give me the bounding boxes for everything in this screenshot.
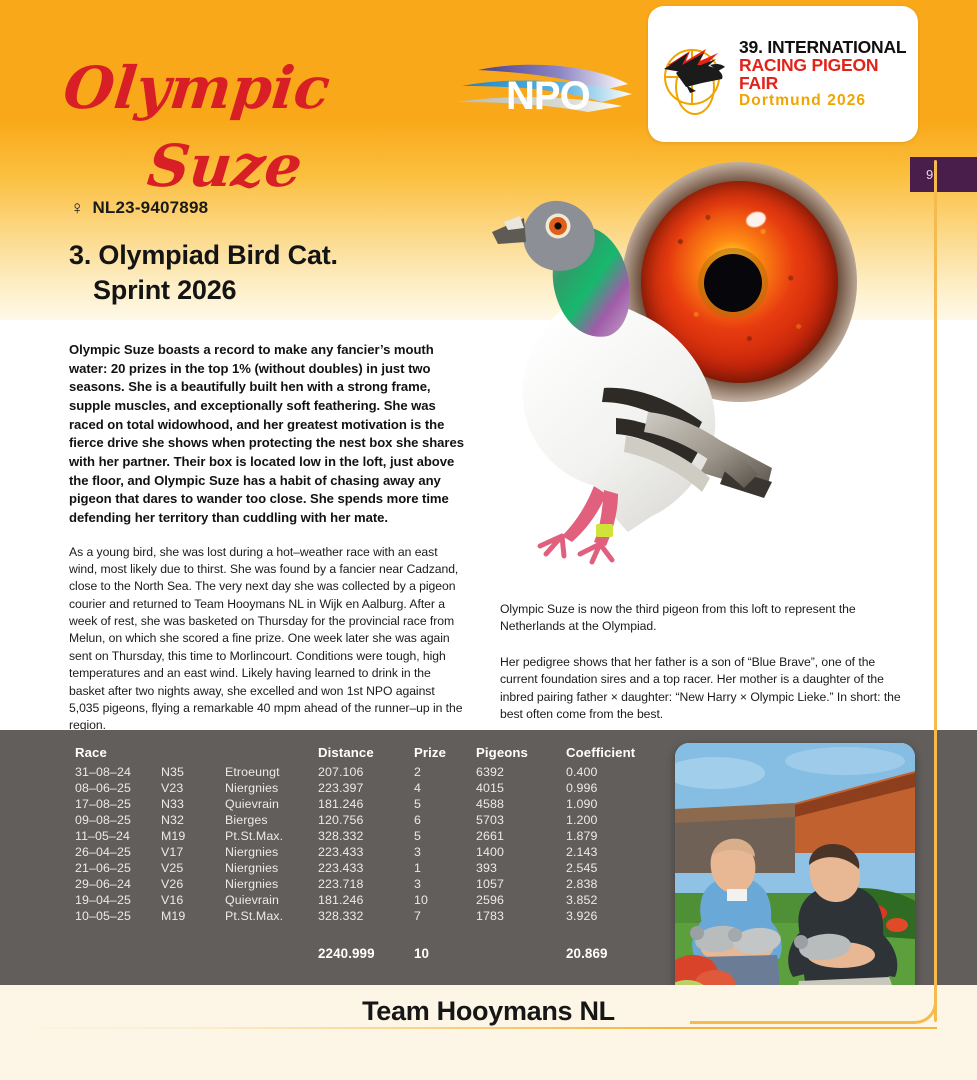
cell-code: V23 — [161, 780, 225, 796]
table-row: 26–04–25V17Niergnies223.433314002.143 — [75, 844, 666, 860]
ring-number: NL23-9407898 — [92, 198, 208, 218]
article-paragraph-5: Her pedigree shows that her father is a … — [500, 654, 905, 724]
race-results-table: Race Distance Prize Pigeons Coefficient … — [75, 745, 666, 962]
female-symbol-icon: ♀ — [70, 199, 84, 218]
article-right-column: Olympic Suze is now the third pigeon fro… — [500, 601, 905, 723]
cell-place: Pt.St.Max. — [225, 908, 318, 924]
article-lead-paragraph: Olympic Suze boasts a record to make any… — [69, 341, 465, 528]
cell-pigeons: 6392 — [476, 764, 566, 780]
cell-distance: 120.756 — [318, 812, 414, 828]
page-number-tab: 9 — [910, 157, 977, 192]
table-row: 11–05–24M19Pt.St.Max.328.332526611.879 — [75, 828, 666, 844]
cell-prize: 6 — [414, 812, 476, 828]
cell-coefficient: 2.143 — [566, 844, 666, 860]
page-title: 3. Olympiad Bird Cat. Sprint 2026 — [69, 238, 469, 307]
cell-place: Quievrain — [225, 892, 318, 908]
table-row: 17–08–25N33Quievrain181.246545881.090 — [75, 796, 666, 812]
column-header-distance: Distance — [318, 745, 414, 764]
headline-line2: Sprint 2026 — [69, 273, 469, 308]
cell-prize: 5 — [414, 796, 476, 812]
cell-code: N35 — [161, 764, 225, 780]
cell-coefficient: 3.926 — [566, 908, 666, 924]
cell-coefficient: 1.090 — [566, 796, 666, 812]
table-row: 21–06–25V25Niergnies223.43313932.545 — [75, 860, 666, 876]
cell-pigeons: 1783 — [476, 908, 566, 924]
column-header-code — [161, 745, 225, 764]
fair-emblem — [662, 39, 730, 109]
total-coefficient: 20.869 — [566, 924, 666, 962]
cell-distance: 223.433 — [318, 844, 414, 860]
cell-code: N32 — [161, 812, 225, 828]
cell-distance: 223.433 — [318, 860, 414, 876]
cell-date: 08–06–25 — [75, 780, 161, 796]
cell-pigeons: 393 — [476, 860, 566, 876]
cell-date: 11–05–24 — [75, 828, 161, 844]
column-header-race: Race — [75, 745, 161, 764]
npo-logo: NPO — [452, 54, 640, 126]
cell-date: 29–06–24 — [75, 876, 161, 892]
cell-code: V25 — [161, 860, 225, 876]
article-paragraph-2: As a young bird, she was lost during a h… — [69, 544, 465, 735]
cell-coefficient: 2.838 — [566, 876, 666, 892]
ring-number-line: ♀ NL23-9407898 — [70, 198, 208, 218]
cell-pigeons: 4015 — [476, 780, 566, 796]
cell-coefficient: 3.852 — [566, 892, 666, 908]
cell-code: V17 — [161, 844, 225, 860]
racing-pigeon-fair-logo-card: 39. INTERNATIONAL RACING PIGEON FAIR Dor… — [648, 6, 918, 142]
cell-prize: 1 — [414, 860, 476, 876]
headline-line1: 3. Olympiad Bird Cat. — [69, 240, 338, 270]
cell-code: M19 — [161, 828, 225, 844]
cell-prize: 4 — [414, 780, 476, 796]
cell-pigeons: 1400 — [476, 844, 566, 860]
cell-date: 10–05–25 — [75, 908, 161, 924]
decorative-frame-corner — [690, 1000, 937, 1024]
total-prize: 10 — [414, 924, 476, 962]
page-number: 9 — [926, 167, 933, 182]
total-distance: 2240.999 — [318, 924, 414, 962]
bird-name-line2: Suze — [144, 132, 305, 200]
cell-place: Niergnies — [225, 780, 318, 796]
cell-distance: 328.332 — [318, 908, 414, 924]
cell-code: N33 — [161, 796, 225, 812]
table-header-row: Race Distance Prize Pigeons Coefficient — [75, 745, 666, 764]
cell-coefficient: 1.200 — [566, 812, 666, 828]
cell-distance: 181.246 — [318, 796, 414, 812]
cell-place: Niergnies — [225, 876, 318, 892]
table-row: 09–08–25N32Bierges120.756657031.200 — [75, 812, 666, 828]
cell-pigeons: 4588 — [476, 796, 566, 812]
total-spacer — [161, 924, 225, 962]
total-pigeons — [476, 924, 566, 962]
article-paragraph-4: Olympic Suze is now the third pigeon fro… — [500, 601, 905, 636]
bird-name-script: Olympic Suze — [56, 40, 386, 190]
cell-pigeons: 1057 — [476, 876, 566, 892]
cell-distance: 181.246 — [318, 892, 414, 908]
cell-pigeons: 5703 — [476, 812, 566, 828]
cell-place: Bierges — [225, 812, 318, 828]
fair-title-line2: RACING PIGEON FAIR — [739, 57, 908, 93]
cell-prize: 3 — [414, 844, 476, 860]
cell-distance: 207.106 — [318, 764, 414, 780]
total-spacer — [75, 924, 161, 962]
cell-code: V26 — [161, 876, 225, 892]
table-totals-row: 2240.9991020.869 — [75, 924, 666, 962]
results-body: 31–08–24N35Etroeungt207.106263920.40008–… — [75, 764, 666, 962]
cell-distance: 328.332 — [318, 828, 414, 844]
cell-code: M19 — [161, 908, 225, 924]
column-header-prize: Prize — [414, 745, 476, 764]
flying-pigeon-icon — [662, 39, 730, 99]
cell-prize: 10 — [414, 892, 476, 908]
pigeon-artwork — [470, 140, 910, 590]
column-header-pigeons: Pigeons — [476, 745, 566, 764]
npo-logo-text: NPO — [506, 74, 590, 119]
pigeon-photo — [476, 150, 776, 580]
magazine-page: Olympic Suze — [0, 0, 977, 1080]
total-spacer — [225, 924, 318, 962]
table-row: 19–04–25V16Quievrain181.2461025963.852 — [75, 892, 666, 908]
cell-place: Niergnies — [225, 860, 318, 876]
cell-distance: 223.718 — [318, 876, 414, 892]
cell-coefficient: 0.996 — [566, 780, 666, 796]
cell-date: 09–08–25 — [75, 812, 161, 828]
fair-logo-text: 39. INTERNATIONAL RACING PIGEON FAIR Dor… — [739, 39, 908, 109]
column-header-place — [225, 745, 318, 764]
column-header-coefficient: Coefficient — [566, 745, 666, 764]
cell-code: V16 — [161, 892, 225, 908]
decorative-frame-line — [934, 160, 937, 1022]
cell-pigeons: 2596 — [476, 892, 566, 908]
cell-prize: 3 — [414, 876, 476, 892]
cell-date: 26–04–25 — [75, 844, 161, 860]
cell-distance: 223.397 — [318, 780, 414, 796]
cell-prize: 2 — [414, 764, 476, 780]
table-row: 29–06–24V26Niergnies223.718310572.838 — [75, 876, 666, 892]
cell-date: 21–06–25 — [75, 860, 161, 876]
fair-title-line1: 39. INTERNATIONAL — [739, 39, 908, 57]
cell-date: 31–08–24 — [75, 764, 161, 780]
table-row: 08–06–25V23Niergnies223.397440150.996 — [75, 780, 666, 796]
table-row: 31–08–24N35Etroeungt207.106263920.400 — [75, 764, 666, 780]
cell-pigeons: 2661 — [476, 828, 566, 844]
cell-place: Quievrain — [225, 796, 318, 812]
cell-coefficient: 0.400 — [566, 764, 666, 780]
fair-title-line3: Dortmund 2026 — [739, 93, 908, 109]
bird-name-line1: Olympic — [60, 54, 333, 122]
cell-date: 19–04–25 — [75, 892, 161, 908]
cell-date: 17–08–25 — [75, 796, 161, 812]
table-row: 10–05–25M19Pt.St.Max.328.332717833.926 — [75, 908, 666, 924]
cell-coefficient: 2.545 — [566, 860, 666, 876]
cell-prize: 7 — [414, 908, 476, 924]
cell-place: Pt.St.Max. — [225, 828, 318, 844]
cell-place: Niergnies — [225, 844, 318, 860]
cell-coefficient: 1.879 — [566, 828, 666, 844]
cell-prize: 5 — [414, 828, 476, 844]
cell-place: Etroeungt — [225, 764, 318, 780]
